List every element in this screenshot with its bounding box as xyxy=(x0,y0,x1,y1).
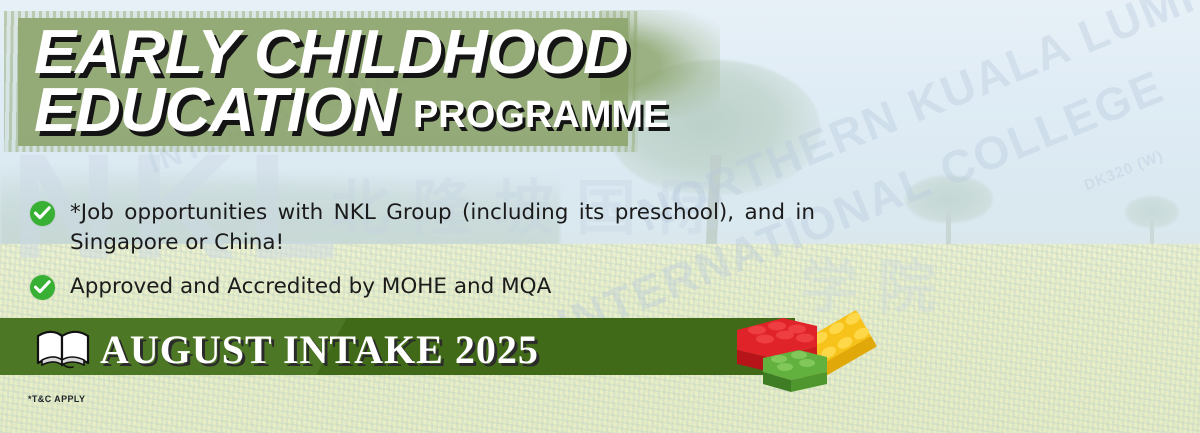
check-circle-icon xyxy=(30,275,55,300)
medium-tree-photo xyxy=(905,175,993,245)
bullet-text: *Job opportunities with NKL Group (inclu… xyxy=(70,198,815,258)
tree-trunk xyxy=(946,211,951,245)
feature-bullet-list: *Job opportunities with NKL Group (inclu… xyxy=(30,198,830,316)
check-circle-icon xyxy=(30,201,55,226)
bullet-item: Approved and Accredited by MOHE and MQA xyxy=(30,272,830,302)
programme-label: PROGRAMME xyxy=(413,94,668,137)
small-tree-photo xyxy=(1125,196,1179,246)
early-childhood-education-banner: NKL INTERNATIONAL 北隆坡国际 学院 NORTHERN KUAL… xyxy=(0,0,1200,433)
bullet-text: Approved and Accredited by MOHE and MQA xyxy=(70,272,551,302)
headline-line-1: EARLY CHILDHOOD xyxy=(34,24,681,82)
intake-label: AUGUST INTAKE 2025 xyxy=(100,326,539,373)
headline-block: EARLY CHILDHOOD EDUCATION PROGRAMME xyxy=(34,24,668,141)
open-book-icon xyxy=(34,327,92,374)
check-glyph xyxy=(34,280,51,295)
tree-trunk xyxy=(1150,220,1154,246)
terms-footnote: *T&C APPLY xyxy=(28,394,85,404)
lego-bricks-decoration xyxy=(725,302,885,392)
bullet-item: *Job opportunities with NKL Group (inclu… xyxy=(30,198,830,258)
headline-row-2: EDUCATION PROGRAMME xyxy=(34,82,668,141)
headline-line-2: EDUCATION xyxy=(34,82,396,140)
check-glyph xyxy=(34,206,51,221)
green-lego-brick xyxy=(763,350,827,392)
